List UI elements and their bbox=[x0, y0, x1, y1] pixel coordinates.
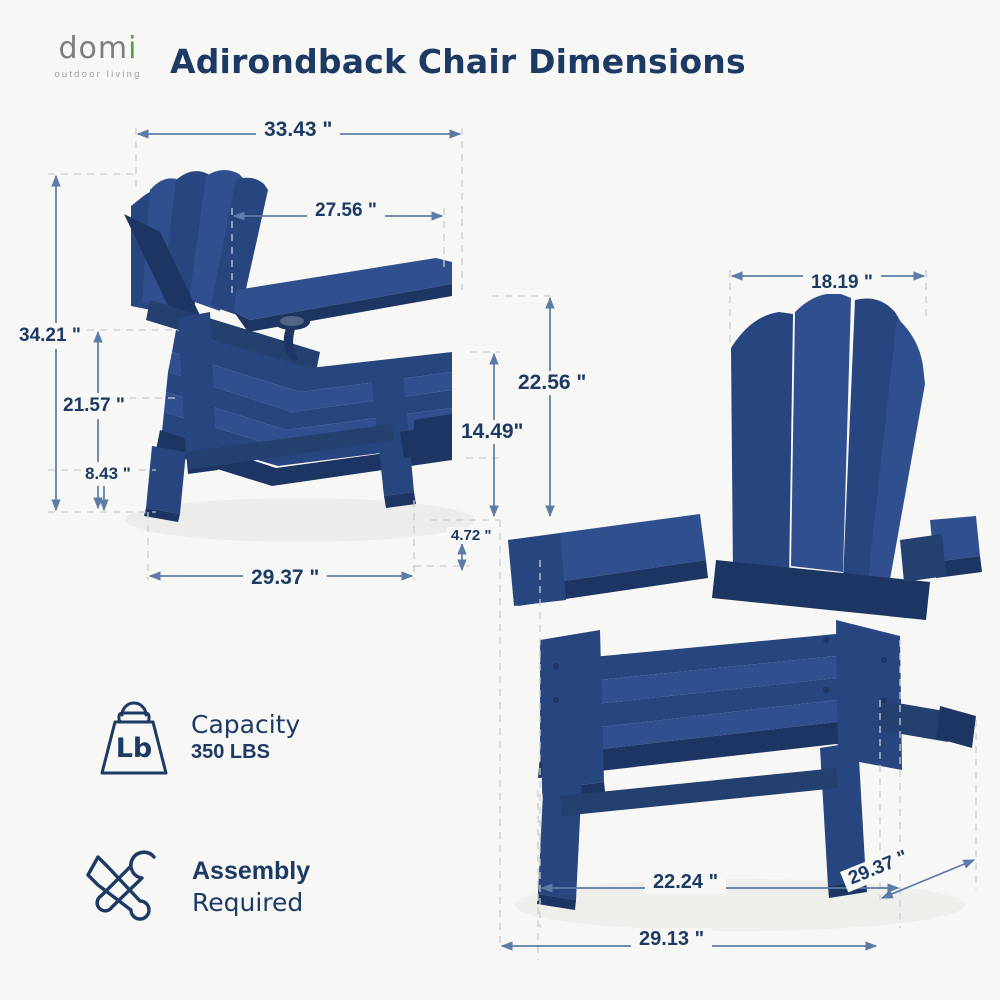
tools-icon bbox=[78, 845, 174, 929]
dimension-lines bbox=[56, 134, 974, 946]
brand-name-main: dom bbox=[59, 31, 129, 66]
dim-seat-height: 14.49" bbox=[455, 420, 530, 444]
assembly-value: Required bbox=[192, 887, 310, 918]
capacity-feature: Lb Capacity 350 LBS bbox=[95, 695, 300, 779]
dim-overall-width: 29.13 " bbox=[631, 928, 712, 951]
dim-seat-height-front: 8.43 " bbox=[82, 462, 134, 486]
chair-side-view bbox=[124, 170, 452, 522]
assembly-feature: Assembly Required bbox=[78, 845, 310, 929]
brand-name-accent: i bbox=[128, 31, 137, 66]
dim-back-height: 21.57 " bbox=[60, 393, 128, 419]
capacity-value: 350 LBS bbox=[191, 740, 300, 765]
dim-ground-clearance: 4.72 " bbox=[447, 527, 495, 544]
brand-name: domi bbox=[28, 34, 168, 64]
dim-base-depth: 29.37 " bbox=[243, 566, 327, 590]
dim-overall-height: 34.21 " bbox=[16, 323, 84, 349]
dim-overall-depth: 33.43 " bbox=[256, 118, 340, 142]
dim-overall-depth-iso: 29.37 " bbox=[840, 844, 917, 892]
guide-lines bbox=[48, 128, 976, 960]
dim-back-width: 18.19 " bbox=[803, 272, 881, 294]
brand-tagline: outdoor living bbox=[28, 69, 168, 80]
dim-arm-height: 22.56 " bbox=[512, 371, 592, 395]
assembly-label: Assembly bbox=[192, 856, 310, 887]
svg-text:Lb: Lb bbox=[116, 733, 153, 764]
page-title: Adirondback Chair Dimensions bbox=[170, 42, 970, 81]
capacity-label: Capacity bbox=[191, 709, 300, 740]
diagram-canvas: domi outdoor living Adirondback Chair Di… bbox=[0, 0, 1000, 1000]
weight-icon: Lb bbox=[95, 695, 173, 779]
dim-seat-to-back-depth: 27.56 " bbox=[307, 200, 385, 222]
dim-seat-width: 22.24 " bbox=[645, 871, 726, 894]
brand-logo: domi outdoor living bbox=[28, 34, 168, 80]
